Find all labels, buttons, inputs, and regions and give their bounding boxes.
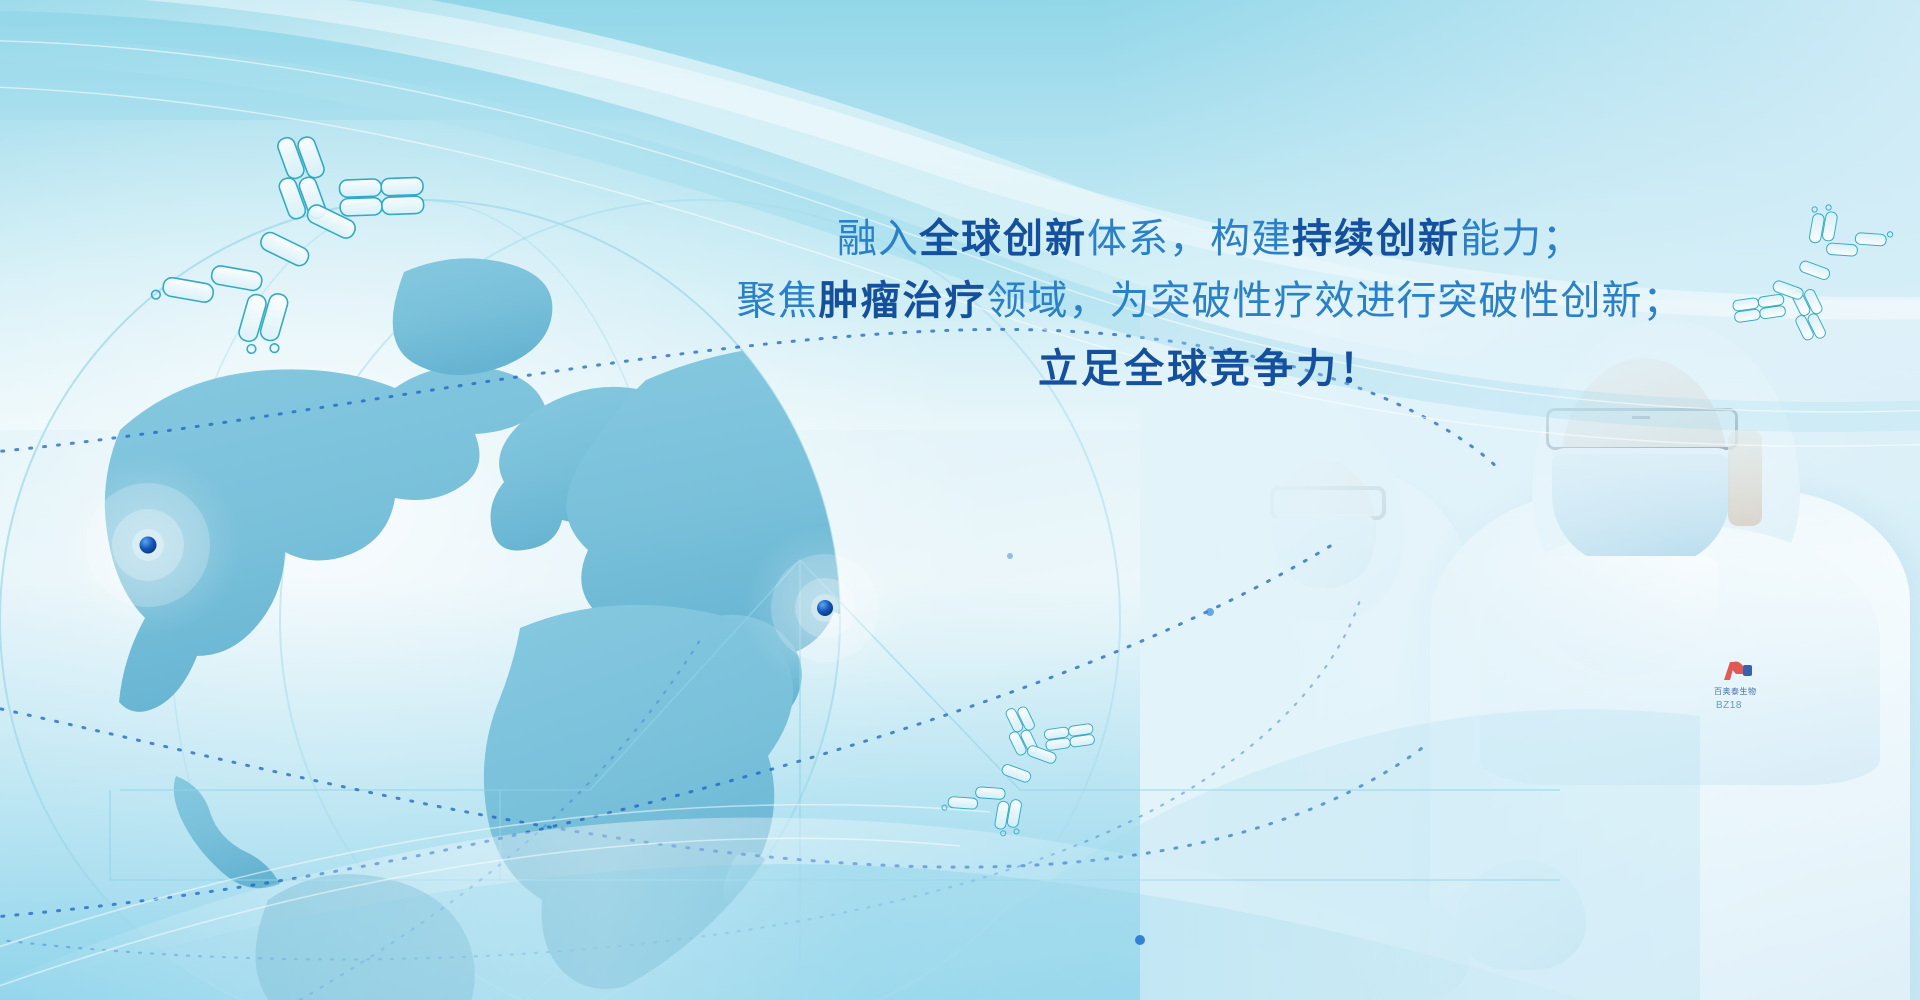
headline-line3-seg1: 立足全球竞争力！ [1038,347,1382,391]
headline-line2-seg1: 聚焦 [737,279,819,323]
headline-line1-seg5: 能力； [1460,217,1583,261]
headline-line-1: 融入全球创新体系，构建持续创新能力； [660,208,1760,270]
headline-line1-seg4: 持续创新 [1292,217,1460,261]
lab-technicians-photo: 百奥泰生物 BZ18 [1140,300,1920,1000]
headline-line2-seg2: 肿瘤治疗 [819,279,987,323]
headline-block: 融入全球创新体系，构建持续创新能力； 聚焦肿瘤治疗领域，为突破性疗效进行突破性创… [660,208,1760,400]
headline-line-2: 聚焦肿瘤治疗领域，为突破性疗效进行突破性创新； [660,270,1760,332]
headline-line1-seg2: 全球创新 [919,217,1087,261]
headline-line-3: 立足全球竞争力！ [660,338,1760,400]
hero-banner: 百奥泰生物 BZ18 [0,0,1920,1000]
headline-line1-seg1: 融入 [837,217,919,261]
headline-line1-seg3: 体系，构建 [1087,217,1292,261]
photo-left-fade [1140,300,1920,1000]
accent-dot [1007,553,1013,559]
headline-line2-seg3: 领域，为突破性疗效进行突破性创新； [987,279,1684,323]
